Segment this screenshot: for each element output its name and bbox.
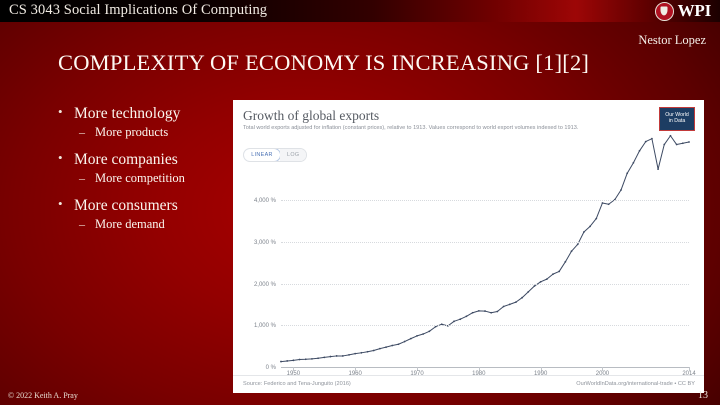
plot-area: 0 %1,000 %2,000 %3,000 %4,000 %	[281, 175, 689, 367]
toggle-linear[interactable]: LINEAR	[243, 148, 281, 162]
bullet-level2: More competition	[56, 171, 236, 186]
chart-card: Growth of global exports Total world exp…	[233, 100, 704, 393]
wpi-shield-seal-icon	[655, 2, 674, 21]
chart-title: Growth of global exports	[243, 108, 379, 124]
chart-footer: Source: Federico and Tena-Junguito (2016…	[233, 375, 704, 393]
page-title: COMPLEXITY OF ECONOMY IS INCREASING [1][…	[58, 50, 589, 76]
presentation-slide: CS 3043 Social Implications Of Computing…	[0, 0, 720, 405]
bullet-list: More technology More products More compa…	[56, 105, 236, 243]
slide-number: 13	[698, 390, 708, 401]
y-axis-tick-label: 4,000 %	[254, 198, 276, 204]
wpi-wordmark: WPI	[678, 1, 711, 21]
chart-subtitle: Total world exports adjusted for inflati…	[243, 124, 643, 133]
course-title: CS 3043 Social Implications Of Computing	[9, 2, 267, 19]
scale-toggle-group[interactable]: LINEAR LOG	[243, 148, 307, 162]
source-citation: Source: Federico and Tena-Junguito (2016…	[243, 381, 351, 387]
our-world-in-data-logo: Our World in Data	[659, 107, 695, 131]
bullet-level2: More demand	[56, 217, 236, 232]
gridline: 4,000 %	[281, 200, 689, 201]
y-axis-tick-label: 3,000 %	[254, 240, 276, 246]
author-name: Nestor Lopez	[638, 33, 706, 48]
owid-logo-line2: in Data	[669, 119, 685, 125]
bullet-level1: More technology	[56, 105, 236, 123]
y-axis-tick-label: 1,000 %	[254, 323, 276, 329]
y-axis-tick-label: 2,000 %	[254, 282, 276, 288]
bullet-level1: More companies	[56, 151, 236, 169]
gridline: 3,000 %	[281, 242, 689, 243]
copyright-notice: © 2022 Keith A. Pray	[8, 391, 78, 400]
source-url: OurWorldInData.org/international-trade •…	[576, 381, 695, 387]
bullet-level1: More consumers	[56, 197, 236, 215]
gridline: 1,000 %	[281, 325, 689, 326]
y-axis-tick-label: 0 %	[266, 365, 276, 371]
exports-line-series	[281, 175, 689, 367]
wpi-logo: WPI	[655, 1, 711, 21]
bullet-level2: More products	[56, 125, 236, 140]
toggle-log[interactable]: LOG	[280, 149, 306, 161]
gridline: 2,000 %	[281, 284, 689, 285]
